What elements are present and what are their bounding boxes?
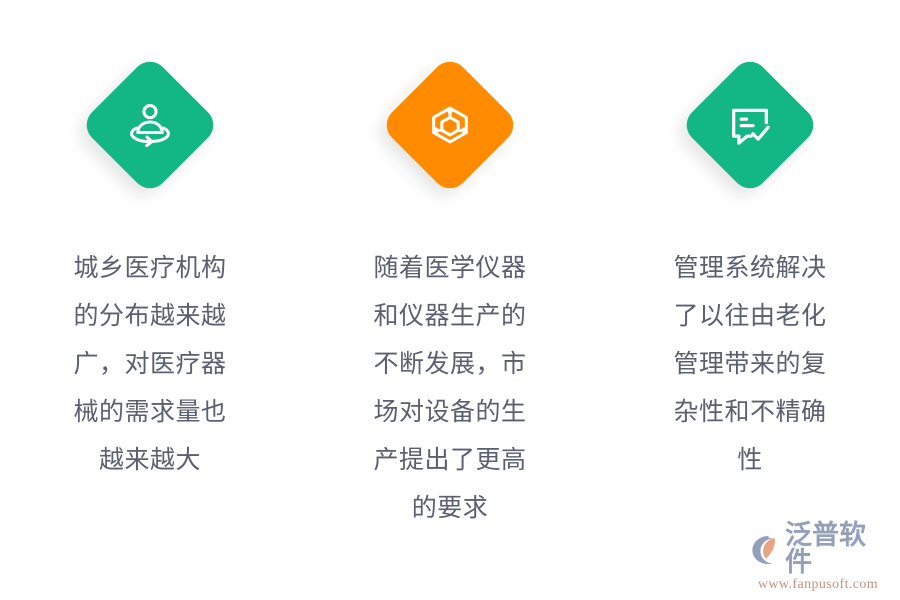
text-line: 场对设备的生 [335, 389, 565, 437]
text-line: 和仪器生产的 [335, 293, 565, 341]
diamond-badge-3 [679, 54, 820, 195]
diamond-badge-2 [379, 54, 520, 195]
feature-column-3: 管理系统解决 了以往由老化 管理带来的复 杂性和不精确 性 [600, 0, 900, 485]
fanpu-logo-icon [748, 533, 782, 565]
text-line: 性 [635, 437, 865, 485]
text-line: 管理系统解决 [635, 245, 865, 293]
text-line: 的分布越来越 [35, 293, 265, 341]
message-check-icon [722, 97, 778, 153]
text-line: 广，对医疗器 [35, 341, 265, 389]
text-line: 不断发展，市 [335, 341, 565, 389]
badge-wrap-3 [650, 25, 850, 225]
feature-column-2: 随着医学仪器 和仪器生产的 不断发展，市 场对设备的生 产提出了更高 的要求 [300, 0, 600, 533]
text-line: 了以往由老化 [635, 293, 865, 341]
text-line: 城乡医疗机构 [35, 245, 265, 293]
diamond-badge-1 [79, 54, 220, 195]
brand-watermark: 泛普软件 www.fanpusoft.com [748, 536, 888, 592]
badge-wrap-2 [350, 25, 550, 225]
feature-column-1: 城乡医疗机构 的分布越来越 广，对医疗器 械的需求量也 越来越大 [0, 0, 300, 485]
text-line: 产提出了更高 [335, 437, 565, 485]
brand-name: 泛普软件 [785, 522, 888, 576]
text-line: 械的需求量也 [35, 389, 265, 437]
user-orbit-icon [122, 97, 178, 153]
diamond-inner-3 [719, 94, 781, 156]
brand-url: www.fanpusoft.com [758, 578, 878, 592]
hexagon-network-icon [422, 97, 478, 153]
feature-text-1: 城乡医疗机构 的分布越来越 广，对医疗器 械的需求量也 越来越大 [35, 245, 265, 485]
diamond-inner-1 [119, 94, 181, 156]
text-line: 杂性和不精确 [635, 389, 865, 437]
text-line: 越来越大 [35, 437, 265, 485]
diamond-inner-2 [419, 94, 481, 156]
text-line: 随着医学仪器 [335, 245, 565, 293]
badge-wrap-1 [50, 25, 250, 225]
feature-text-2: 随着医学仪器 和仪器生产的 不断发展，市 场对设备的生 产提出了更高 的要求 [335, 245, 565, 533]
brand-row: 泛普软件 [748, 522, 888, 576]
text-line: 的要求 [335, 485, 565, 533]
feature-text-3: 管理系统解决 了以往由老化 管理带来的复 杂性和不精确 性 [635, 245, 865, 485]
text-line: 管理带来的复 [635, 341, 865, 389]
feature-columns: 城乡医疗机构 的分布越来越 广，对医疗器 械的需求量也 越来越大 [0, 0, 900, 600]
